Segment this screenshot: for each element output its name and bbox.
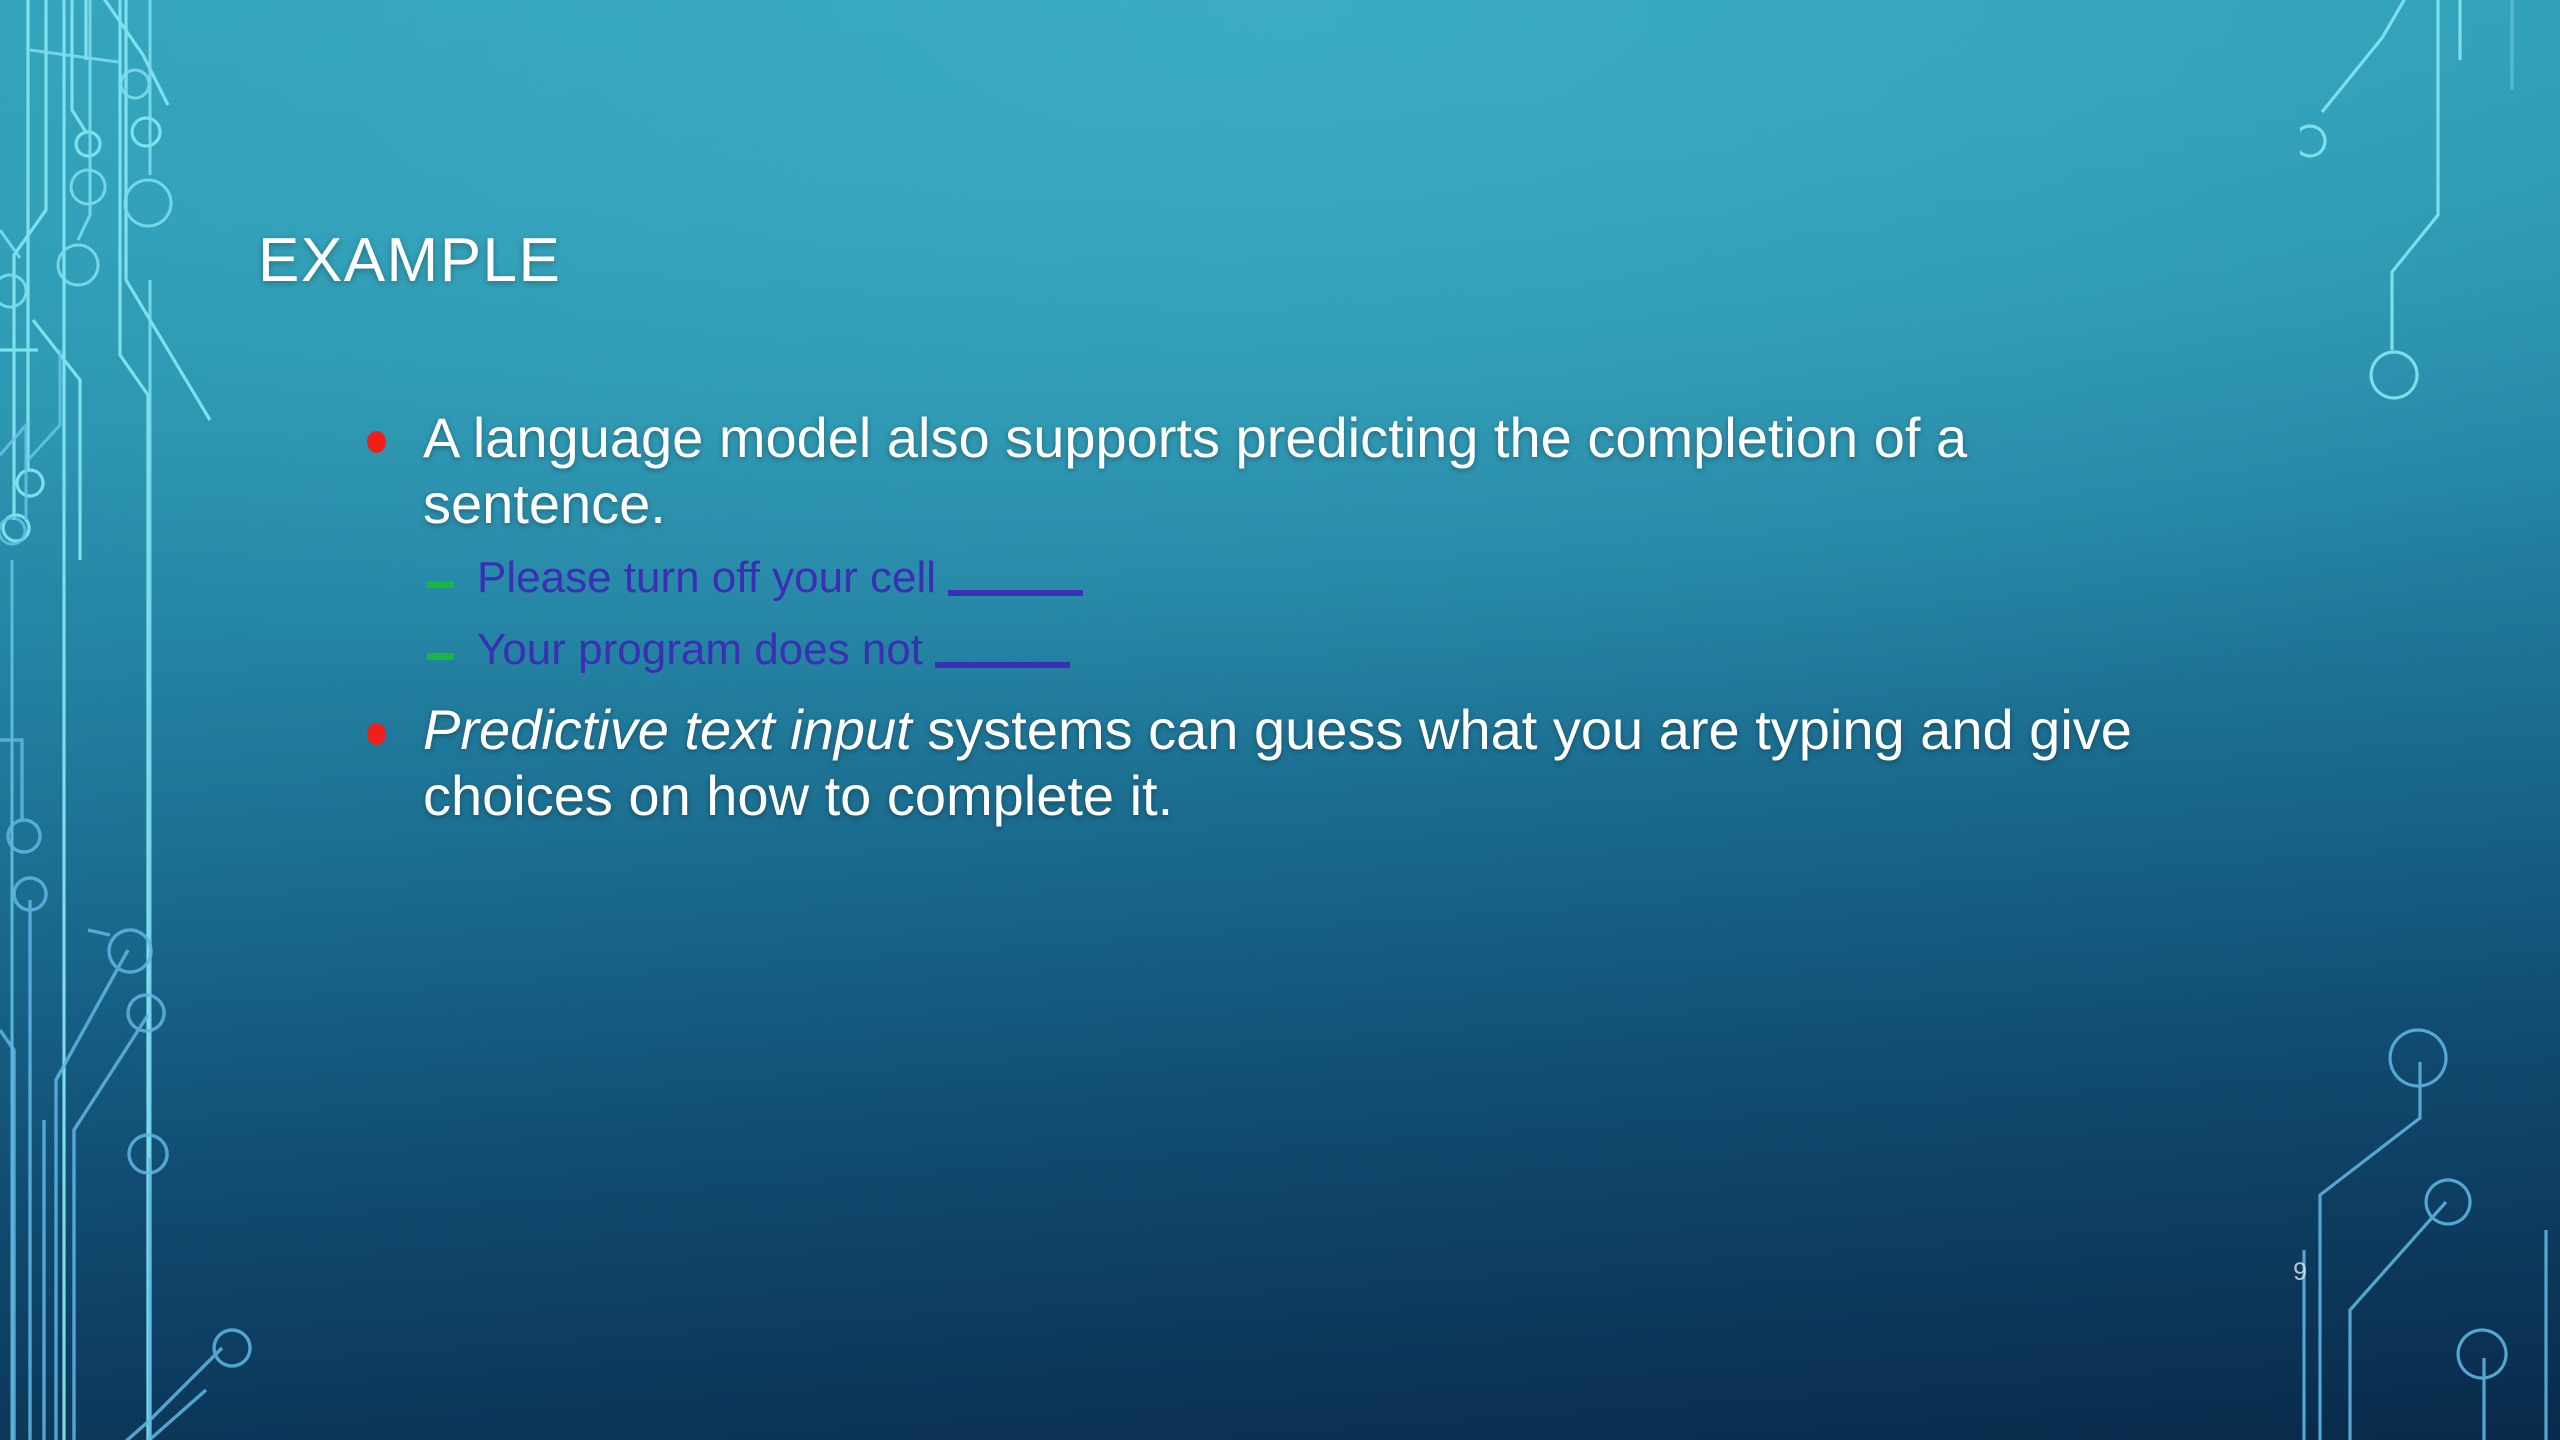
sub-bullet-list: Please turn off your cell Your program d…	[355, 554, 2275, 673]
round-bullet-icon	[367, 723, 386, 745]
circuit-decoration-right	[2300, 0, 2560, 1440]
fill-in-blank	[948, 590, 1083, 596]
slide-body: A language model also supports predictin…	[355, 405, 2275, 838]
fill-in-blank	[935, 662, 1070, 668]
circuit-decoration-left	[0, 0, 330, 1440]
bullet-item-sub-2: Your program does not	[355, 626, 2275, 674]
dash-bullet-icon	[427, 581, 454, 588]
presentation-slide: EXAMPLE A language model also supports p…	[0, 0, 2560, 1440]
slide-number: 9	[2293, 1258, 2307, 1287]
bullet-item-primary-1: A language model also supports predictin…	[355, 405, 2223, 536]
bullet-item-sub-1: Please turn off your cell	[355, 554, 2275, 602]
sub-bullet-text: Your program does not	[477, 625, 923, 674]
bullet-item-primary-2: Predictive text input systems can guess …	[355, 697, 2223, 828]
bullet-text: A language model also supports predictin…	[423, 406, 1967, 535]
round-bullet-icon	[367, 431, 386, 453]
bullet-text-emphasis: Predictive text input	[423, 698, 912, 761]
sub-bullet-text: Please turn off your cell	[477, 553, 936, 602]
dash-bullet-icon	[427, 653, 454, 660]
page-title: EXAMPLE	[258, 225, 561, 296]
